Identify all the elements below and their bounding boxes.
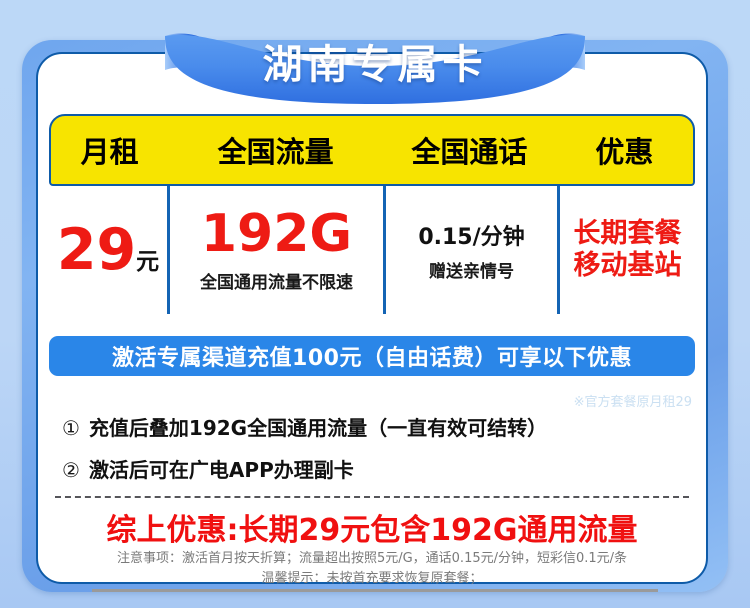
rent-amount: 29 [57, 217, 136, 283]
bullet-text-1: 充值后叠加192G全国通用流量（一直有效可结转） [89, 412, 547, 441]
call-rate: 0.15/分钟 [418, 219, 524, 251]
offer-line-2: 移动基站 [574, 250, 682, 282]
benefits-list: ① 充值后叠加192G全国通用流量（一直有效可结转） ② 激活后可在广电APP办… [62, 412, 692, 496]
dashed-divider [55, 496, 689, 498]
header-cell-data: 全国流量 [168, 129, 383, 171]
fine-print: 注意事项：激活首月按天折算；流量超出按照5元/G，通话0.15元/分钟，短彩信0… [49, 549, 695, 588]
table-header-row: 月租 全国流量 全国通话 优惠 [49, 114, 695, 186]
bullet-text-2: 激活后可在广电APP办理副卡 [89, 454, 354, 483]
footer-rule [92, 589, 658, 592]
rent-currency-unit: 元 [136, 249, 159, 275]
cell-national-data: 192G 全国通用流量不限速 [167, 186, 383, 314]
fine-print-line-1: 注意事项：激活首月按天折算；流量超出按照5元/G，通话0.15元/分钟，短彩信0… [49, 549, 695, 569]
summary-headline: 综上优惠:长期29元包含192G通用流量 [49, 505, 695, 549]
fine-print-line-2: 温馨提示：未按首充要求恢复原套餐； [49, 569, 695, 589]
header-cell-rent: 月租 [51, 129, 168, 171]
table-data-row: 29元 192G 全国通用流量不限速 0.15/分钟 赠送亲情号 长期套餐 移动… [49, 186, 695, 314]
promo-banner-bar: 激活专属渠道充值100元（自由话费）可享以下优惠 [49, 336, 695, 376]
cell-monthly-rent: 29元 [49, 186, 167, 314]
call-subtitle: 赠送亲情号 [429, 257, 514, 282]
offer-line-1: 长期套餐 [574, 218, 682, 250]
data-subtitle: 全国通用流量不限速 [200, 268, 353, 293]
rent-value-wrap: 29元 [57, 222, 159, 279]
cell-offer: 长期套餐 移动基站 [557, 186, 695, 314]
data-amount: 192G [201, 207, 352, 262]
bullet-marker-1: ① [62, 416, 80, 440]
list-item: ② 激活后可在广电APP办理副卡 [62, 454, 692, 483]
original-price-note: ※官方套餐原月租29 [574, 391, 692, 410]
cell-national-calls: 0.15/分钟 赠送亲情号 [383, 186, 557, 314]
promo-banner-text: 激活专属渠道充值100元（自由话费）可享以下优惠 [112, 340, 632, 372]
header-cell-offer: 优惠 [556, 129, 693, 171]
header-cell-calls: 全国通话 [383, 129, 556, 171]
banner-title: 湖南专属卡 [0, 32, 750, 90]
bullet-marker-2: ② [62, 458, 80, 482]
list-item: ① 充值后叠加192G全国通用流量（一直有效可结转） [62, 412, 692, 441]
